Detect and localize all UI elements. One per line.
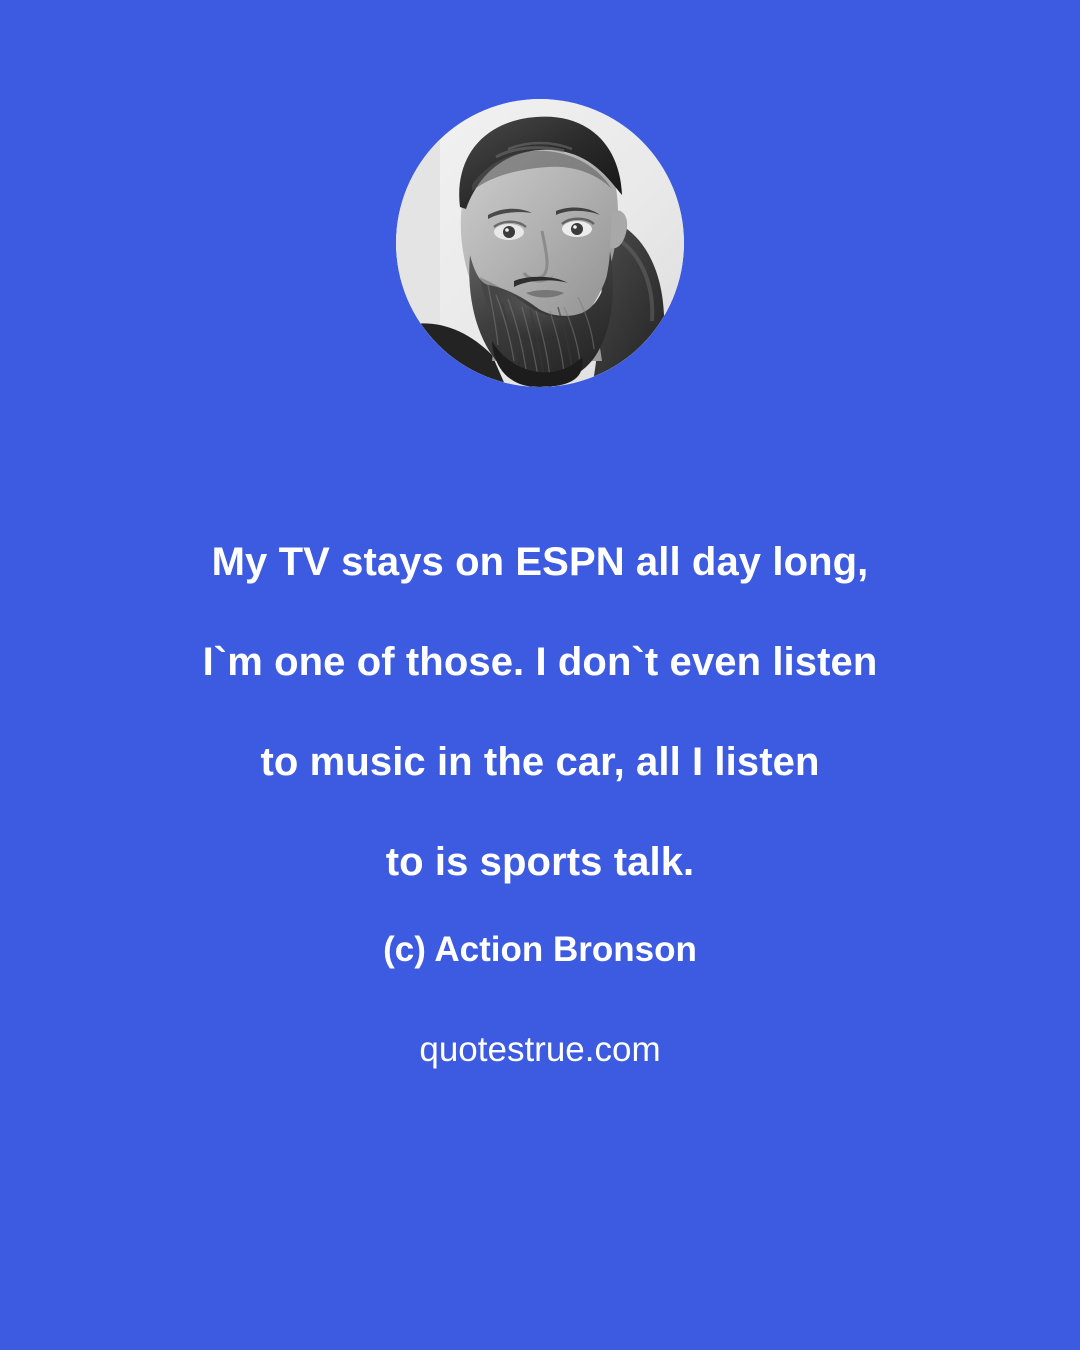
quote-line: My TV stays on ESPN all day long,: [110, 512, 970, 612]
quote-attribution: (c) Action Bronson: [90, 925, 990, 975]
quote-line: to music in the car, all I listen: [110, 712, 970, 812]
quote-line: to is sports talk.: [110, 812, 970, 912]
author-portrait-photo: [396, 99, 684, 387]
quote-card: My TV stays on ESPN all day long, I`m on…: [0, 0, 1080, 1350]
portrait-container: [0, 99, 1080, 387]
site-watermark: quotestrue.com: [90, 1025, 990, 1075]
quote-line: I`m one of those. I don`t even listen: [110, 612, 970, 712]
quote-text: My TV stays on ESPN all day long, I`m on…: [110, 512, 970, 912]
